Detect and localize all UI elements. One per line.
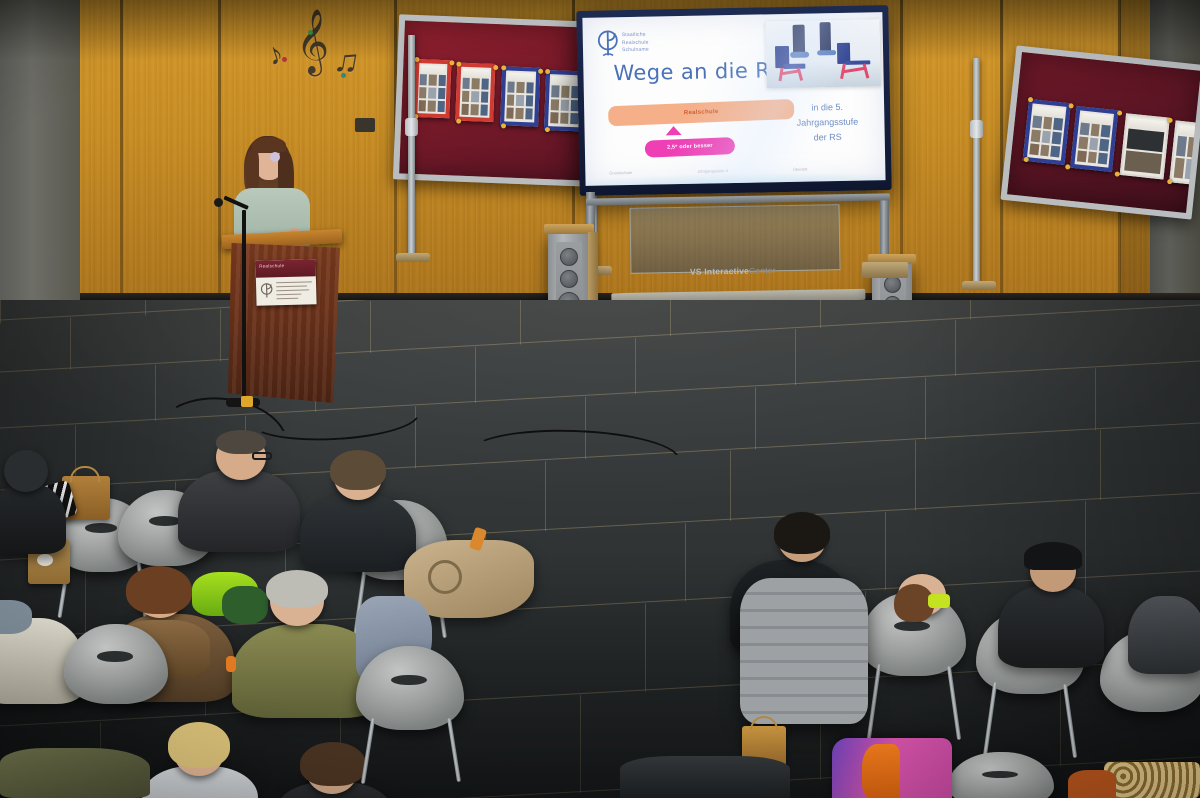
- chair-handle-slot: [149, 516, 182, 526]
- pin: [1114, 171, 1119, 176]
- person-hair: [774, 512, 830, 554]
- coat-strap: [428, 560, 462, 594]
- sign-text-lines: [276, 281, 313, 302]
- sign-band: Realschule: [255, 259, 315, 278]
- microphone-clamp-icon: [241, 396, 253, 407]
- slide-org-line: Staatliche Realschule Schulname: [622, 32, 649, 55]
- slide-decor-wave: [585, 157, 885, 186]
- mini-boot: [793, 24, 805, 54]
- mini-shoe: [817, 50, 835, 56]
- presenter-badge: [270, 152, 280, 162]
- pin: [1117, 110, 1122, 115]
- microphone-head: [214, 198, 223, 207]
- poster-photo-grid: [419, 74, 446, 111]
- mini-shoe: [790, 52, 809, 58]
- person-torso: [0, 484, 66, 554]
- note-gem-teal: [341, 73, 346, 78]
- display-stand-shelf: [629, 204, 840, 274]
- pin: [545, 127, 550, 132]
- pinboard-felt: [1000, 45, 1200, 219]
- pin: [1167, 118, 1172, 123]
- pin: [493, 65, 498, 70]
- black-cap: [1024, 542, 1082, 570]
- pinboard-leg: [973, 58, 980, 283]
- poster-photo-grid: [1029, 115, 1064, 157]
- list-item: [413, 59, 451, 118]
- speaker-driver: [560, 248, 578, 266]
- person-head: [4, 450, 48, 492]
- pin: [1068, 103, 1073, 108]
- olive-coat-on-floor: [0, 748, 150, 798]
- person-torso: [1128, 596, 1200, 674]
- pin: [449, 60, 454, 65]
- left-pinboard: [393, 14, 595, 186]
- speaker-driver: [884, 276, 901, 293]
- pinboard-foot: [962, 281, 996, 290]
- lectern-sign: Realschule: [255, 259, 316, 306]
- pin: [1065, 164, 1070, 169]
- chair-shell: [64, 624, 168, 704]
- poster-photo-grid: [1124, 128, 1164, 174]
- mini-chair: [837, 42, 872, 80]
- poster-photo-grid: [506, 82, 534, 120]
- brand-interactive: Interactive: [704, 266, 749, 277]
- pinboard-leg: [408, 35, 415, 255]
- poster-photo-grid: [1173, 135, 1200, 181]
- orange-scarf: [862, 744, 900, 798]
- list-item: [455, 63, 495, 122]
- slide-bar-secondary-label: 2,5* oder besser: [667, 143, 713, 151]
- brand-center: Center: [749, 265, 776, 275]
- list-item: [276, 742, 396, 798]
- chair[interactable]: [948, 752, 1054, 798]
- person-torso: [300, 494, 416, 572]
- leopard-print-bag: [1104, 762, 1200, 798]
- photo-scene: 𝄞 ♪ ♫: [0, 0, 1200, 798]
- list-item: [1120, 113, 1170, 179]
- pin: [456, 119, 461, 124]
- person-hair: [330, 450, 386, 490]
- slide-bar-primary-label: Realschule: [684, 109, 719, 116]
- list-item: [1169, 120, 1200, 186]
- speaker-wood-block: [862, 262, 908, 278]
- presentation-display: Staatliche Realschule Schulname Wege an …: [576, 5, 891, 196]
- pinboard-felt: [393, 14, 595, 186]
- person-torso: [178, 470, 300, 552]
- person-hair: [168, 722, 230, 768]
- list-item: [1023, 99, 1071, 165]
- slide-photo: [765, 19, 880, 88]
- neon-green-headphones: [928, 594, 950, 608]
- person-hair: [216, 430, 266, 454]
- list-item: [1070, 106, 1118, 172]
- pin: [501, 123, 506, 128]
- speaker-wood-top: [544, 224, 594, 234]
- list-item: [878, 570, 968, 630]
- list-item: [500, 66, 540, 126]
- right-pinboard: [1000, 45, 1200, 219]
- pin: [1167, 179, 1172, 184]
- list-item: [178, 428, 308, 548]
- poster-photo-grid: [461, 78, 489, 116]
- list-item: [300, 450, 420, 568]
- list-item: [142, 722, 262, 798]
- chair[interactable]: [64, 624, 168, 704]
- eyeglasses-icon: [252, 452, 272, 460]
- person-hair: [126, 566, 192, 614]
- list-item: [998, 540, 1108, 660]
- person-hair: [266, 570, 328, 608]
- chair-handle-slot: [85, 523, 118, 533]
- poster-photo-grid: [1076, 122, 1111, 164]
- slide-bar-primary: Realschule: [608, 99, 795, 127]
- slide-content: Staatliche Realschule Schulname Wege an …: [582, 12, 885, 186]
- dark-coat-floor: [620, 756, 790, 798]
- pin: [538, 69, 543, 74]
- display-screen: Staatliche Realschule Schulname Wege an …: [582, 12, 885, 186]
- person-hair: [300, 742, 366, 786]
- list-item: [0, 450, 70, 550]
- pinboard-foot: [396, 253, 430, 262]
- person-arm: [0, 600, 32, 634]
- bag-label: [37, 554, 53, 566]
- leg-clamp: [970, 120, 983, 138]
- mini-boot: [819, 23, 831, 53]
- slide-bar-secondary: 2,5* oder besser: [645, 137, 736, 157]
- person-torso: [998, 586, 1104, 668]
- chair-handle-slot: [97, 651, 132, 661]
- speaker-driver: [560, 270, 578, 288]
- wall-fitting: [355, 118, 375, 132]
- sign-band-label: Realschule: [259, 263, 284, 269]
- brand-vs: VS: [690, 266, 704, 276]
- orange-fabric: [1068, 770, 1116, 798]
- school-crest-icon: [596, 29, 623, 59]
- orange-zip-pull: [226, 656, 236, 672]
- slide-right-text: in die 5. Jahrgangsstufe der RS: [785, 100, 870, 146]
- grey-puffer-jacket: [740, 578, 868, 724]
- poster-photo-grid: [550, 86, 580, 125]
- microphone-pole: [242, 210, 246, 400]
- slide-up-arrow-icon: [665, 126, 681, 135]
- school-crest-icon: [260, 282, 275, 299]
- list-item: [1128, 560, 1200, 670]
- display-stand-brand: VS InteractiveCenter: [690, 265, 776, 276]
- pin: [1024, 157, 1029, 162]
- leg-clamp: [405, 118, 418, 136]
